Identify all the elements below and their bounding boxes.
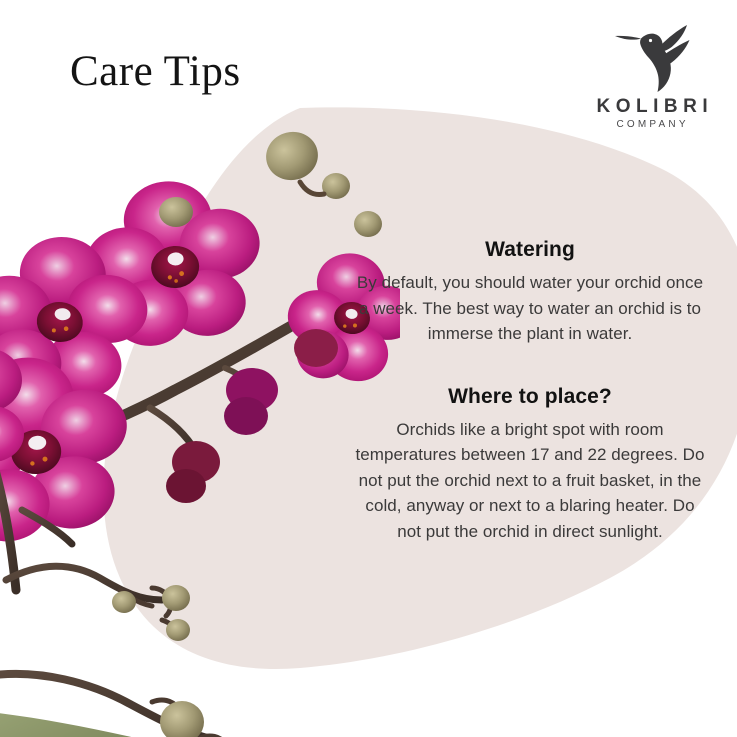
brand-logo: KOLIBRI COMPANY bbox=[591, 18, 711, 130]
care-tips-list: Watering By default, you should water yo… bbox=[355, 238, 705, 544]
brand-name: KOLIBRI bbox=[591, 97, 711, 117]
tip-heading: Where to place? bbox=[355, 385, 705, 409]
hummingbird-logo-icon bbox=[605, 18, 697, 94]
tip-body: Orchids like a bright spot with room tem… bbox=[355, 417, 705, 545]
tip-heading: Watering bbox=[355, 238, 705, 262]
page-title: Care Tips bbox=[70, 47, 241, 96]
tip-block-watering: Watering By default, you should water yo… bbox=[355, 238, 705, 347]
tip-block-where-to-place: Where to place? Orchids like a bright sp… bbox=[355, 385, 705, 545]
tip-body: By default, you should water your orchid… bbox=[355, 270, 705, 347]
care-tips-poster: Care Tips KOLIBRI COMPANY bbox=[0, 0, 737, 737]
brand-tagline: COMPANY bbox=[591, 120, 711, 131]
